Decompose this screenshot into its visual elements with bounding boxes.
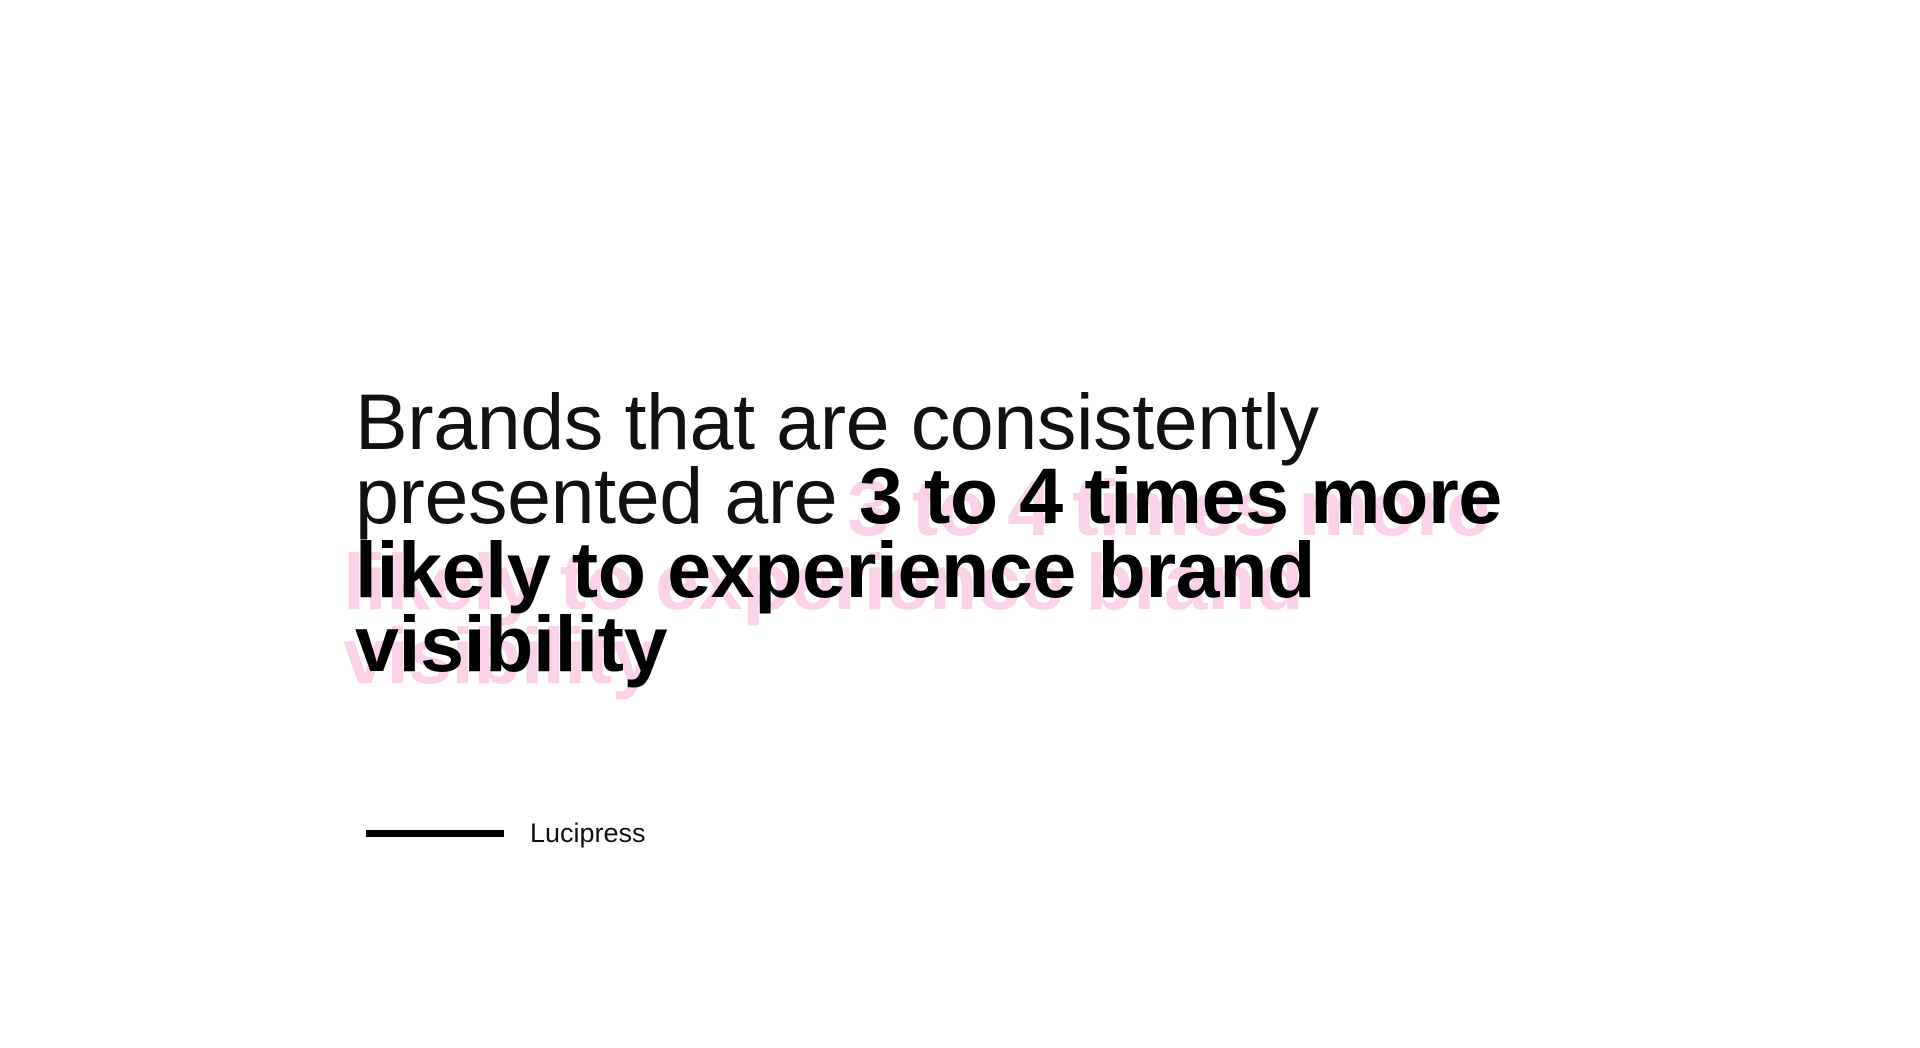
quote-text: Brands that are consistently presented a… [355, 385, 1545, 681]
attribution-source-name: Lucipress [530, 818, 646, 848]
attribution-rule-icon [366, 830, 504, 837]
quote-block: Brands that are consistently presented a… [355, 385, 1545, 681]
quote-slide: Brands that are consistently presented a… [0, 0, 1920, 1048]
attribution: Lucipress [366, 818, 646, 848]
